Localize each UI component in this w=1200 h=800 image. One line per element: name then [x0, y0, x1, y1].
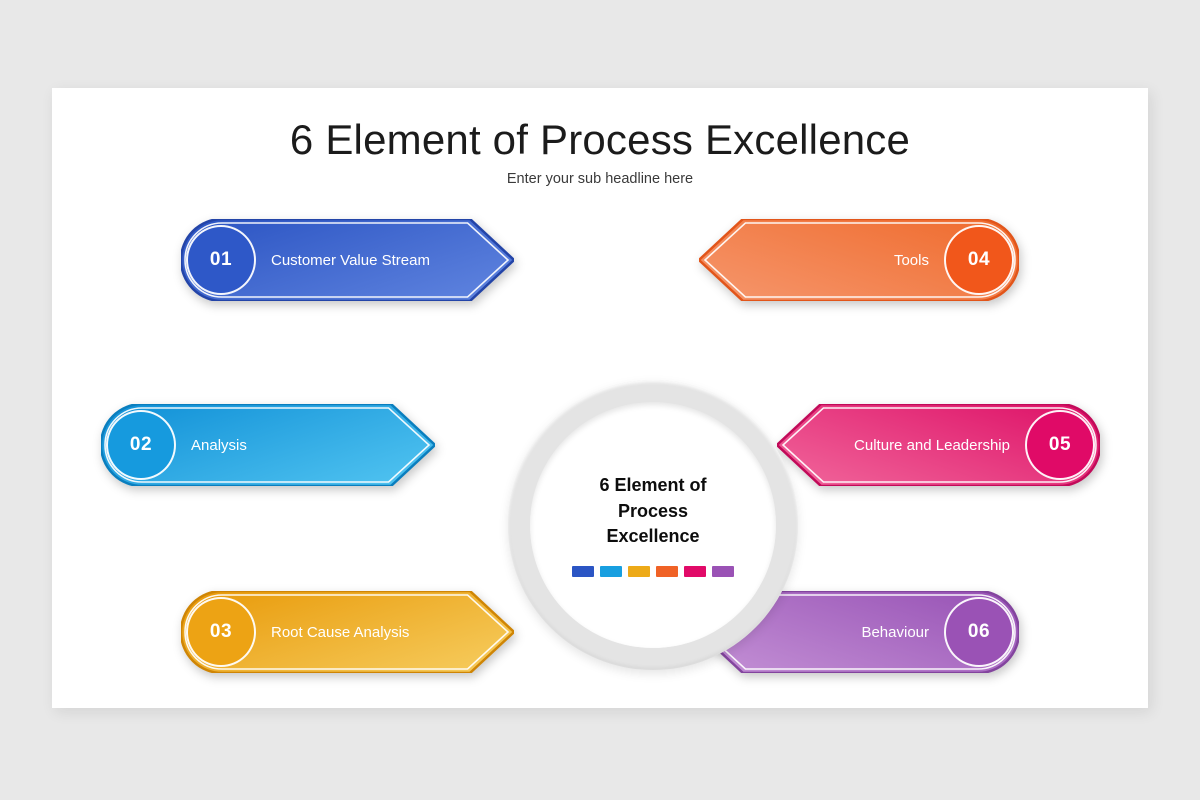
- element-label-05: Culture and Leadership: [854, 404, 1010, 486]
- slide-card: 6 Element of Process Excellence Enter yo…: [52, 88, 1148, 708]
- process-element-02[interactable]: 02Analysis: [101, 404, 435, 486]
- element-label-06: Behaviour: [861, 591, 929, 673]
- page-title: 6 Element of Process Excellence: [52, 116, 1148, 164]
- number-badge-06: 06: [944, 597, 1014, 667]
- page-subtitle: Enter your sub headline here: [52, 171, 1148, 187]
- element-label-01: Customer Value Stream: [271, 219, 430, 301]
- number-badge-01: 01: [186, 225, 256, 295]
- number-badge-02: 02: [106, 410, 176, 480]
- legend-swatch-2: [600, 566, 622, 577]
- number-badge-05: 05: [1025, 410, 1095, 480]
- center-circle: 6 Element of Process Excellence: [508, 380, 798, 670]
- legend-swatch-5: [684, 566, 706, 577]
- center-circle-inner: 6 Element of Process Excellence: [530, 402, 776, 648]
- number-badge-04: 04: [944, 225, 1014, 295]
- number-badge-03: 03: [186, 597, 256, 667]
- element-label-03: Root Cause Analysis: [271, 591, 409, 673]
- legend-swatch-1: [572, 566, 594, 577]
- process-element-03[interactable]: 03Root Cause Analysis: [181, 591, 514, 673]
- legend-swatches: [572, 566, 734, 577]
- legend-swatch-3: [628, 566, 650, 577]
- legend-swatch-4: [656, 566, 678, 577]
- element-label-04: Tools: [894, 219, 929, 301]
- process-element-05[interactable]: 05Culture and Leadership: [777, 404, 1100, 486]
- process-element-04[interactable]: 04Tools: [699, 219, 1019, 301]
- process-element-01[interactable]: 01Customer Value Stream: [181, 219, 514, 301]
- legend-swatch-6: [712, 566, 734, 577]
- element-label-02: Analysis: [191, 404, 247, 486]
- center-title: 6 Element of Process Excellence: [599, 473, 706, 551]
